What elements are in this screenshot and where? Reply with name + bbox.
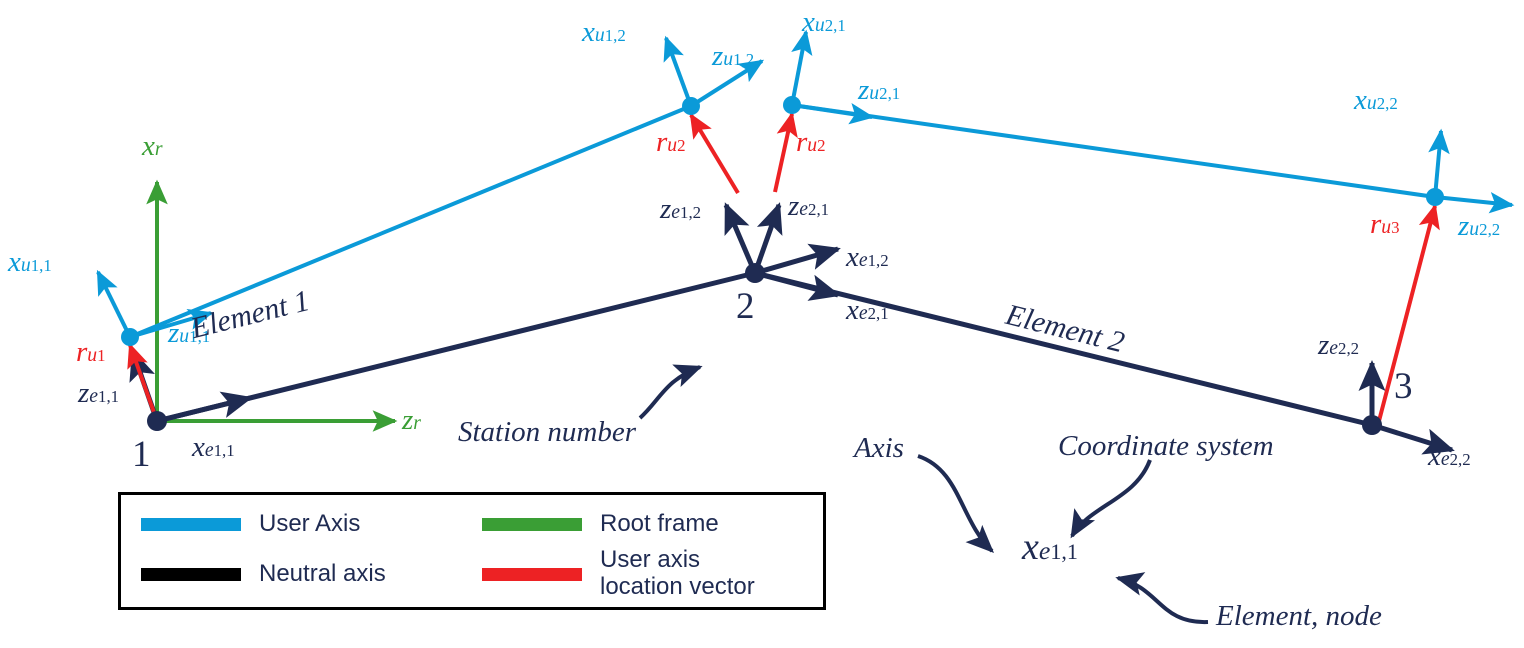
legend-swatch-root-frame (482, 518, 582, 531)
x-u-2-2-arrow (1435, 131, 1441, 197)
z-e-1-2-label: ze1,2 (660, 195, 701, 224)
z-u-2-1-arrow (792, 105, 872, 117)
node-2-number: 2 (736, 288, 755, 325)
z-e-2-1-arrow (755, 205, 779, 273)
x-u-1-2-label: xu1,2 (582, 18, 626, 47)
legend-swatch-neutral-axis (141, 568, 241, 581)
r-u-3-label: ru3 (1370, 210, 1400, 239)
node-2-point (745, 263, 765, 283)
x-e-2-1-arrow (755, 273, 838, 295)
x-e-1-2-arrow (755, 249, 838, 273)
legend-label-user-axis-location-vector: User axis location vector (600, 547, 755, 601)
node-1-element-frame (133, 352, 250, 421)
legend-item-neutral-axis: Neutral axis (141, 561, 482, 588)
x-e-1-1-arrow (157, 398, 250, 421)
z-e-1-2-arrow (726, 205, 755, 273)
coordinate-system-leader (1072, 460, 1150, 536)
r-u-1-arrow (130, 345, 157, 421)
x-e-2-2-label: xe2,2 (1428, 442, 1471, 471)
axis-callout: Axis (854, 434, 904, 463)
station-number-leader (640, 367, 700, 418)
x-u-2-1-arrow (792, 32, 806, 105)
r-u-2-left-label: ru2 (656, 128, 686, 157)
z-u-1-2-label: zu1,2 (712, 42, 754, 71)
node-1-number: 1 (132, 436, 151, 473)
x-u-1-1-arrow (98, 272, 130, 337)
z-e-2-2-label: ze2,2 (1318, 331, 1359, 360)
legend-swatch-user-axis (141, 518, 241, 531)
x-e-1-1-label: xe1,1 (192, 433, 235, 462)
node-2-element-1-location-vector (691, 115, 738, 193)
z-u-2-2-arrow (1435, 197, 1512, 205)
legend-item-user-axis: User Axis (141, 511, 482, 538)
x-u-2-1-label: xu2,1 (802, 8, 846, 37)
r-u-2-left-arrow (691, 115, 738, 193)
x-u-2-2-label: xu2,2 (1354, 86, 1398, 115)
z-e-1-1-label: ze1,1 (78, 379, 119, 408)
legend-swatch-user-axis-location-vector (482, 568, 582, 581)
x-e-2-1-label: xe2,1 (846, 296, 889, 325)
node-1-location-vector (130, 345, 157, 421)
element-node-callout: Element, node (1216, 602, 1382, 631)
z-u-2-2-label: zu2,2 (1458, 212, 1500, 241)
element-2-user-axis-line (792, 105, 1435, 197)
user-axis-beams (130, 105, 1435, 337)
diagram-canvas: xr zr xu1,1 zu1,1 ru1 ze1,1 xe1,1 1 xu1,… (0, 0, 1524, 648)
root-frame-z-label: zr (402, 406, 421, 435)
element-1-user-axis-line (130, 106, 691, 337)
z-e-2-1-label: ze2,1 (788, 192, 829, 221)
node-3-point (1362, 415, 1382, 435)
neutral-axis-beams (157, 273, 1372, 425)
legend-item-root-frame: Root frame (482, 511, 823, 538)
node-2-user-point-right (783, 96, 801, 114)
legend-label-neutral-axis: Neutral axis (259, 561, 386, 588)
legend-label-root-frame: Root frame (600, 511, 719, 538)
r-u-2-right-label: ru2 (796, 128, 826, 157)
node-2-element-2-location-vector (775, 114, 792, 192)
legend-label-user-axis: User Axis (259, 511, 360, 538)
legend: User Axis Root frame Neutral axis User a… (118, 492, 826, 610)
x-u-1-2-arrow (666, 38, 691, 106)
node-3-user-frame (1426, 131, 1512, 206)
station-number-callout: Station number (458, 418, 636, 447)
coordinate-system-callout: Coordinate system (1058, 432, 1274, 461)
sample-symbol-callout: xe1,1 (1022, 528, 1078, 566)
x-e-1-2-label: xe1,2 (846, 243, 889, 272)
node-3-number: 3 (1394, 368, 1413, 405)
node-1-point (147, 411, 167, 431)
z-u-2-1-label: zu2,1 (858, 76, 900, 105)
root-frame-x-label: xr (142, 132, 163, 161)
axis-leader (918, 456, 992, 551)
node-2-user-point-left (682, 97, 700, 115)
r-u-2-right-arrow (775, 114, 792, 192)
node-3-user-point (1426, 188, 1444, 206)
x-u-1-1-label: xu1,1 (8, 248, 52, 277)
legend-item-user-axis-location-vector: User axis location vector (482, 547, 823, 601)
node-1-user-point (121, 328, 139, 346)
r-u-1-label: ru1 (76, 338, 106, 367)
element-node-leader (1118, 578, 1208, 622)
